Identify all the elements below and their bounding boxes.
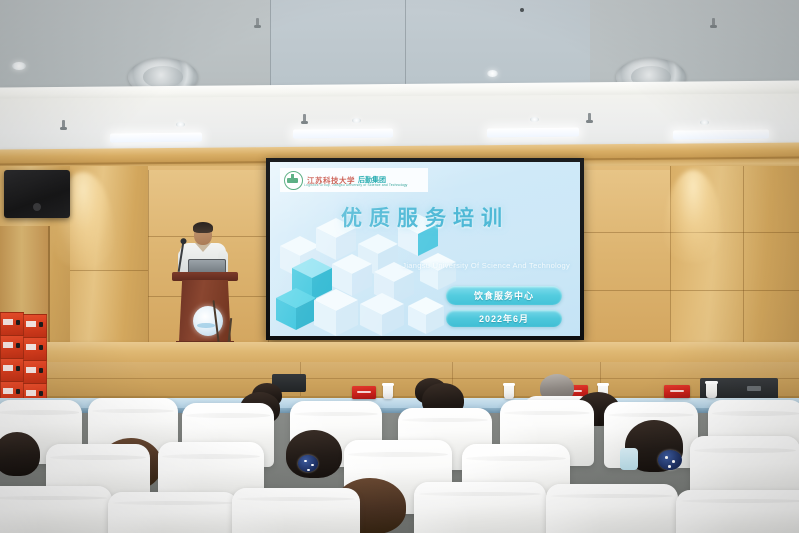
- sprinkler-head-2: [712, 18, 715, 27]
- projection-screen-bezel: 江苏科技大学 后勤集团 Logistics Group, Jiangsu Uni…: [266, 158, 584, 340]
- presenter-hair: [193, 222, 213, 233]
- wall-seam-5: [70, 270, 148, 271]
- sprinkler-head-1: [256, 18, 259, 27]
- panel-light-1: [110, 133, 202, 143]
- slide-pill-date: 2022年6月: [446, 310, 562, 327]
- wall-panel-right-recess: [584, 170, 670, 360]
- podium-body: [179, 280, 231, 342]
- audience-chair: [0, 486, 112, 533]
- audience-chair: [232, 488, 360, 533]
- ceiling-downlight-a: [176, 122, 185, 127]
- university-shield-icon: [284, 171, 303, 190]
- carton-box: [0, 312, 24, 336]
- wall-speaker: [4, 170, 70, 218]
- attendee-head: [286, 430, 342, 478]
- podium: [176, 272, 234, 350]
- ceiling-downlight-mid: [487, 70, 498, 77]
- sprinkler-head-3: [62, 120, 65, 129]
- panel-light-4: [673, 129, 769, 139]
- paper-cup: [706, 381, 717, 398]
- carton-box: [23, 314, 47, 338]
- slide-subtitle-english: Jiangsu University Of Science And Techno…: [402, 261, 570, 270]
- audience-chair: [414, 482, 546, 533]
- paper-cup: [383, 383, 393, 399]
- panel-light-2: [293, 128, 393, 138]
- carton-box: [0, 358, 24, 382]
- wall-seam-vert-1: [148, 170, 149, 360]
- podium-emblem: [193, 306, 223, 336]
- audience-chair: [108, 492, 238, 533]
- logo-english-line: Logistics Group, Jiangsu University of S…: [304, 183, 408, 187]
- carton-box: [23, 337, 47, 361]
- ceiling-panel-mid-right: [405, 0, 592, 92]
- audience-chair: [676, 490, 799, 533]
- audience-chair: [546, 484, 678, 533]
- slide-pill-department: 饮食服务中心: [446, 286, 562, 305]
- carton-box: [23, 360, 47, 384]
- table-red-box: [352, 386, 376, 399]
- carton-box: [0, 335, 24, 359]
- ceiling-downlight-left: [12, 62, 26, 70]
- face-mask: [620, 448, 638, 470]
- ceiling-downlight-d: [700, 120, 709, 125]
- auditorium-photo: 江苏科技大学 后勤集团 Logistics Group, Jiangsu Uni…: [0, 0, 799, 533]
- table-red-box: [664, 385, 690, 398]
- sprinkler-head-4: [303, 114, 306, 123]
- slide-title: 优质服务培训: [270, 202, 580, 232]
- ceiling-downlight-c: [530, 117, 539, 122]
- hair-clip: [298, 455, 318, 472]
- wall-seam-4: [584, 290, 799, 291]
- projection-screen: 江苏科技大学 后勤集团 Logistics Group, Jiangsu Uni…: [270, 162, 580, 336]
- attendee-head: [0, 432, 40, 476]
- hair-clip: [658, 450, 682, 470]
- ceiling-sensor: [520, 8, 524, 12]
- sprinkler-head-5: [588, 113, 591, 122]
- slide-logo-bar: 江苏科技大学 后勤集团 Logistics Group, Jiangsu Uni…: [280, 168, 428, 192]
- paper-cup: [504, 383, 514, 399]
- ceiling-downlight-b: [352, 118, 361, 123]
- panel-light-3: [487, 128, 579, 138]
- ceiling-panel-mid-left: [270, 0, 407, 92]
- wall-seam-vert-4: [743, 166, 744, 366]
- podium-top: [172, 272, 238, 281]
- stage-face-seam: [0, 378, 799, 379]
